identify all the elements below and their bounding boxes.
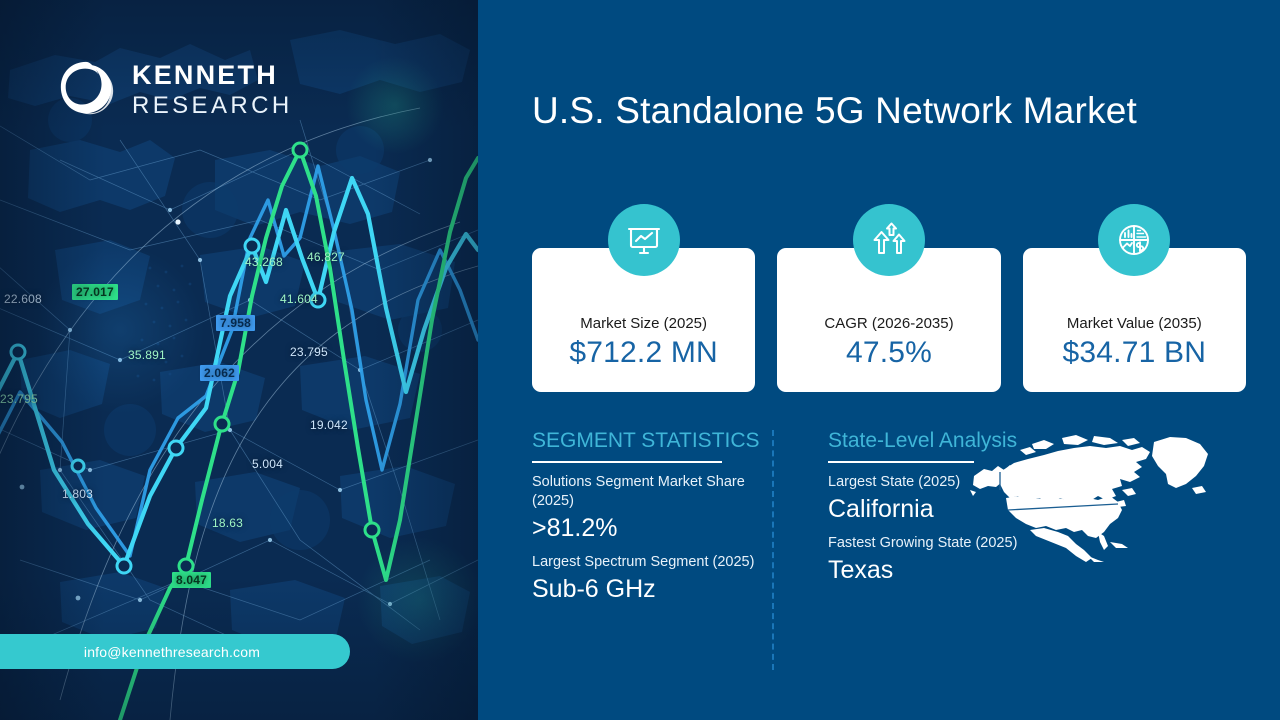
stat-card-value: $34.71 BN	[1063, 336, 1207, 370]
section-rule	[828, 461, 974, 463]
logo-line-2: RESEARCH	[132, 94, 293, 118]
left-visual-panel: 22.608 27.017 23.795 35.891 43.268 46.82…	[0, 0, 478, 720]
right-content-panel: U.S. Standalone 5G Network Market Market…	[478, 0, 1280, 720]
brush-ring-logo-icon	[56, 58, 118, 120]
north-america-map-icon	[970, 432, 1222, 562]
stat-card-value: 47.5%	[846, 336, 932, 370]
section-rule	[532, 461, 722, 463]
infographic-slide: 22.608 27.017 23.795 35.891 43.268 46.82…	[0, 0, 1280, 720]
segment-stat-item: Largest Spectrum Segment (2025) Sub-6 GH…	[532, 553, 764, 606]
segment-statistics-heading: SEGMENT STATISTICS	[532, 428, 764, 453]
segment-stat-label: Largest Spectrum Segment (2025)	[532, 553, 764, 572]
stat-card-cagr: CAGR (2026-2035) 47.5%	[777, 248, 1000, 392]
stat-card-label: Market Value (2035)	[1067, 315, 1202, 332]
section-divider	[772, 430, 774, 670]
brand-logo: KENNETH RESEARCH	[56, 58, 293, 120]
stat-card-market-value: Market Value (2035) $34.71 BN	[1023, 248, 1246, 392]
segment-stat-value: Sub-6 GHz	[532, 573, 764, 606]
stat-card-value: $712.2 MN	[569, 336, 718, 370]
stat-card-label: CAGR (2026-2035)	[824, 315, 953, 332]
segment-stat-item: Solutions Segment Market Share (2025) >8…	[532, 473, 764, 545]
segment-stat-value: >81.2%	[532, 512, 764, 545]
analytics-pie-icon	[1098, 204, 1170, 276]
email-text: info@kennethresearch.com	[60, 644, 260, 660]
growth-arrows-icon	[853, 204, 925, 276]
stat-card-market-size: Market Size (2025) $712.2 MN	[532, 248, 755, 392]
page-title: U.S. Standalone 5G Network Market	[532, 90, 1252, 132]
email-contact-pill[interactable]: info@kennethresearch.com	[0, 634, 350, 669]
segment-stat-label: Solutions Segment Market Share (2025)	[532, 473, 764, 511]
segment-statistics-section: SEGMENT STATISTICS Solutions Segment Mar…	[532, 428, 764, 614]
stat-card-label: Market Size (2025)	[580, 315, 707, 332]
presentation-chart-icon	[608, 204, 680, 276]
stat-card-row: Market Size (2025) $712.2 MN CAGR (2026-…	[532, 248, 1246, 392]
logo-line-1: KENNETH	[132, 62, 293, 89]
